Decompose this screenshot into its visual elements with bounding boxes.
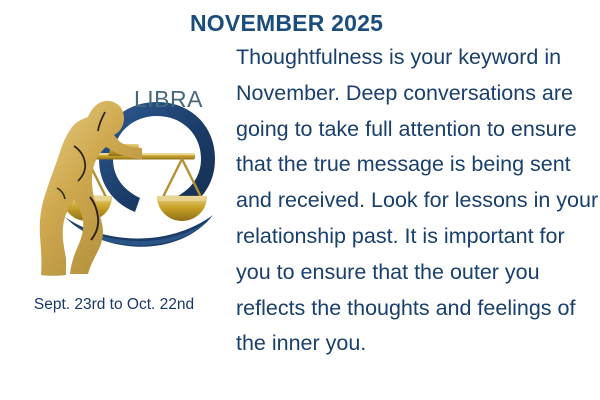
zodiac-emblem-panel: LIBRA Sept. 23rd to Oct. 22nd	[0, 0, 228, 400]
zodiac-date-range: Sept. 23rd to Oct. 22nd	[0, 296, 228, 314]
libra-horoscope-card: LIBRA Sept. 23rd to Oct. 22nd NOVEMBER 2…	[0, 0, 600, 400]
horoscope-body-text: Thoughtfulness is your keyword in Novemb…	[236, 40, 600, 362]
page-title: NOVEMBER 2025	[190, 10, 383, 37]
zodiac-sign-name: LIBRA	[134, 86, 203, 113]
horoscope-text-panel: NOVEMBER 2025 Thoughtfulness is your key…	[228, 0, 600, 400]
